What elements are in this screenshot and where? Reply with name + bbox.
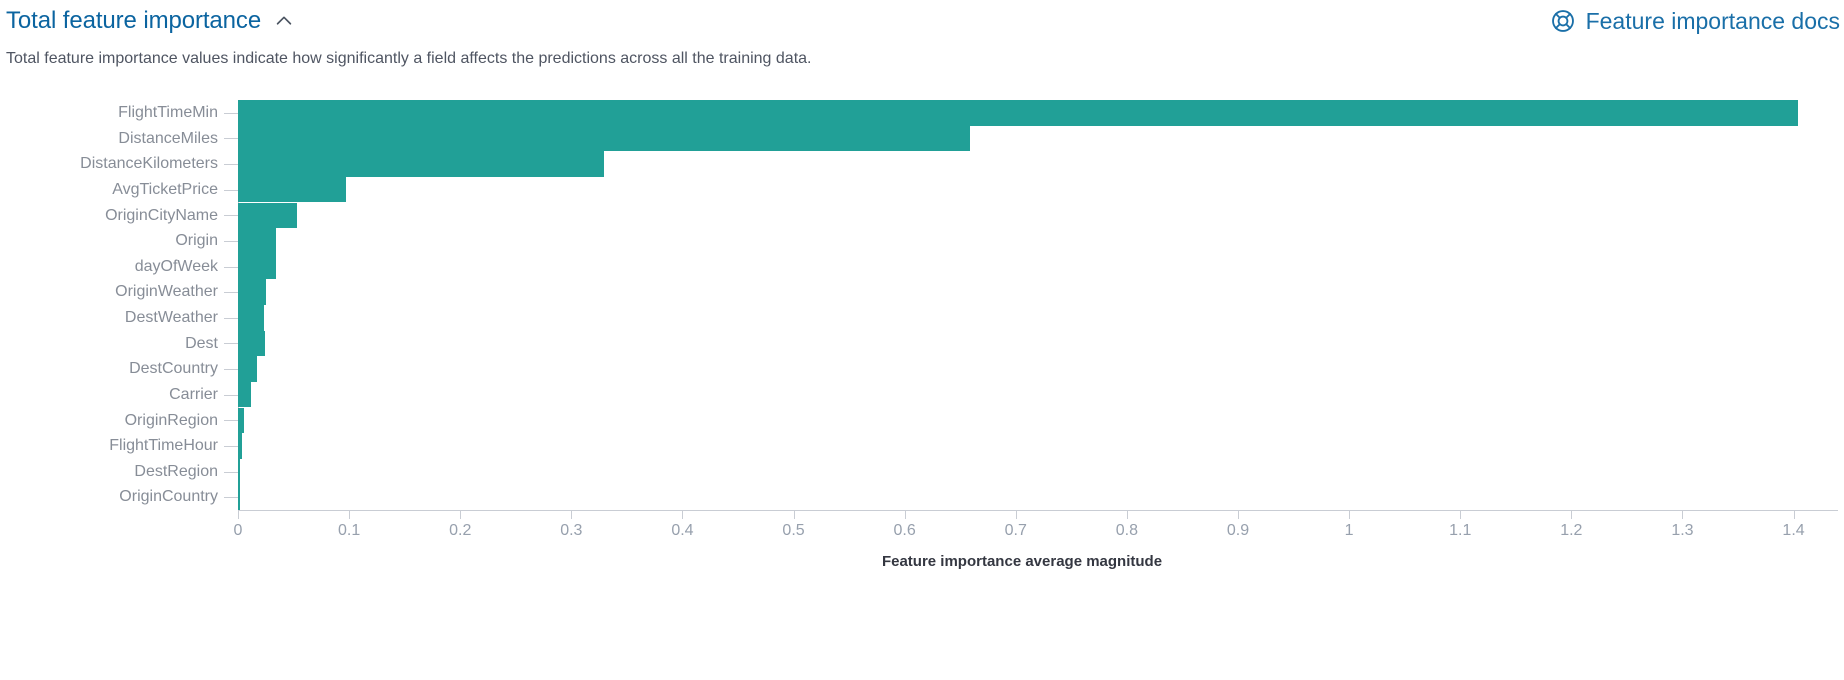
x-axis-tick (1127, 510, 1128, 519)
lifebuoy-help-icon (1550, 8, 1576, 34)
total-feature-importance-toggle[interactable]: Total feature importance (6, 6, 295, 36)
bar-row[interactable]: DestCountry (238, 356, 1838, 382)
y-axis-label-carrier: Carrier (0, 382, 218, 408)
y-axis-tick (224, 318, 238, 319)
bar-destweather[interactable] (238, 305, 264, 331)
x-axis-title: Feature importance average magnitude (0, 553, 1844, 570)
plot-area: FlightTimeMinDistanceMilesDistanceKilome… (238, 100, 1838, 510)
x-axis-tick (905, 510, 906, 519)
y-axis-tick (224, 113, 238, 114)
bar-distancekilometers[interactable] (238, 151, 604, 177)
x-axis-tick-label: 0.9 (1227, 522, 1249, 540)
x-axis-tick-label: 1 (1345, 522, 1354, 540)
y-axis-tick (224, 241, 238, 242)
feature-importance-docs-link[interactable]: Feature importance docs (1550, 7, 1840, 35)
x-axis-title-label: Feature importance average magnitude (882, 553, 1162, 570)
bar-row[interactable]: FlightTimeHour (238, 433, 1838, 459)
x-axis-tick-label: 0.5 (782, 522, 804, 540)
x-axis-tick-label: 0.4 (671, 522, 693, 540)
x-axis-tick (1349, 510, 1350, 519)
x-axis-tick (682, 510, 683, 519)
y-axis-tick (224, 267, 238, 268)
y-axis-label-origincityname: OriginCityName (0, 203, 218, 229)
bar-row[interactable]: OriginWeather (238, 279, 1838, 305)
bar-avgticketprice[interactable] (238, 177, 346, 203)
bar-destregion[interactable] (238, 459, 240, 485)
y-axis-label-flighttimemin: FlightTimeMin (0, 100, 218, 126)
x-axis-tick (238, 510, 239, 519)
bar-row[interactable]: FlightTimeMin (238, 100, 1838, 126)
x-axis-tick (1016, 510, 1017, 519)
bar-dayofweek[interactable] (238, 254, 276, 280)
bar-row[interactable]: DistanceKilometers (238, 151, 1838, 177)
x-axis-tick-label: 0.7 (1005, 522, 1027, 540)
y-axis-tick (224, 190, 238, 191)
x-axis-tick (1682, 510, 1683, 519)
bar-originregion[interactable] (238, 408, 244, 434)
y-axis-tick (224, 369, 238, 370)
y-axis-tick (224, 497, 238, 498)
x-axis-tick (571, 510, 572, 519)
y-axis-label-destregion: DestRegion (0, 459, 218, 485)
y-axis-label-dayofweek: dayOfWeek (0, 254, 218, 280)
bar-dest[interactable] (238, 331, 265, 357)
y-axis-tick (224, 395, 238, 396)
x-axis-tick (1794, 510, 1795, 519)
x-axis-tick (349, 510, 350, 519)
y-axis-tick (224, 343, 238, 344)
x-axis-tick-label: 1.1 (1449, 522, 1471, 540)
y-axis-label-distancemiles: DistanceMiles (0, 126, 218, 152)
x-axis-tick-label: 1.3 (1671, 522, 1693, 540)
y-axis-label-flighttimehour: FlightTimeHour (0, 433, 218, 459)
bar-row[interactable]: OriginCityName (238, 203, 1838, 229)
y-axis-tick (224, 446, 238, 447)
bar-row[interactable]: dayOfWeek (238, 254, 1838, 280)
bar-row[interactable]: Dest (238, 331, 1838, 357)
y-axis-label-origincountry: OriginCountry (0, 484, 218, 510)
bar-row[interactable]: OriginRegion (238, 408, 1838, 434)
y-axis-label-dest: Dest (0, 331, 218, 357)
page-title: Total feature importance (6, 6, 261, 36)
y-axis-tick (224, 420, 238, 421)
x-axis-tick (1571, 510, 1572, 519)
chevron-up-icon[interactable] (273, 10, 295, 32)
bar-flighttimehour[interactable] (238, 433, 242, 459)
bar-row[interactable]: Carrier (238, 382, 1838, 408)
bar-row[interactable]: Origin (238, 228, 1838, 254)
bar-flighttimemin[interactable] (238, 100, 1798, 126)
y-axis-label-originregion: OriginRegion (0, 408, 218, 434)
bar-row[interactable]: DestWeather (238, 305, 1838, 331)
bar-row[interactable]: DestRegion (238, 459, 1838, 485)
x-axis-tick (460, 510, 461, 519)
panel-header: Total feature importance Feature importa… (0, 0, 1844, 42)
y-axis-tick (224, 138, 238, 139)
x-axis-tick-label: 0.8 (1116, 522, 1138, 540)
bar-distancemiles[interactable] (238, 126, 970, 152)
y-axis-tick (224, 292, 238, 293)
panel-description: Total feature importance values indicate… (6, 48, 811, 70)
x-axis-tick-label: 0 (234, 522, 243, 540)
y-axis-label-origin: Origin (0, 228, 218, 254)
x-axis-tick-label: 0.6 (894, 522, 916, 540)
bar-originweather[interactable] (238, 279, 266, 305)
bar-origincountry[interactable] (238, 484, 240, 510)
bar-carrier[interactable] (238, 382, 251, 408)
x-axis-tick-label: 0.3 (560, 522, 582, 540)
x-axis-tick (1238, 510, 1239, 519)
y-axis-label-originweather: OriginWeather (0, 279, 218, 305)
x-axis-line (238, 510, 1838, 511)
y-axis-tick (224, 164, 238, 165)
y-axis-label-destcountry: DestCountry (0, 356, 218, 382)
y-axis-label-avgticketprice: AvgTicketPrice (0, 177, 218, 203)
feature-importance-chart: FlightTimeMinDistanceMilesDistanceKilome… (0, 88, 1844, 680)
bar-origincityname[interactable] (238, 203, 297, 229)
y-axis-label-distancekilometers: DistanceKilometers (0, 151, 218, 177)
x-axis-tick (1460, 510, 1461, 519)
x-axis-tick-label: 0.1 (338, 522, 360, 540)
bar-row[interactable]: AvgTicketPrice (238, 177, 1838, 203)
bar-destcountry[interactable] (238, 356, 257, 382)
x-axis-tick-label: 1.4 (1782, 522, 1804, 540)
y-axis-tick (224, 472, 238, 473)
y-axis-tick (224, 215, 238, 216)
x-axis-tick-label: 1.2 (1560, 522, 1582, 540)
x-axis-tick-label: 0.2 (449, 522, 471, 540)
bar-origin[interactable] (238, 228, 276, 254)
docs-link-label: Feature importance docs (1586, 7, 1840, 35)
bar-row[interactable]: DistanceMiles (238, 126, 1838, 152)
x-axis-tick (794, 510, 795, 519)
y-axis-label-destweather: DestWeather (0, 305, 218, 331)
bar-row[interactable]: OriginCountry (238, 484, 1838, 510)
